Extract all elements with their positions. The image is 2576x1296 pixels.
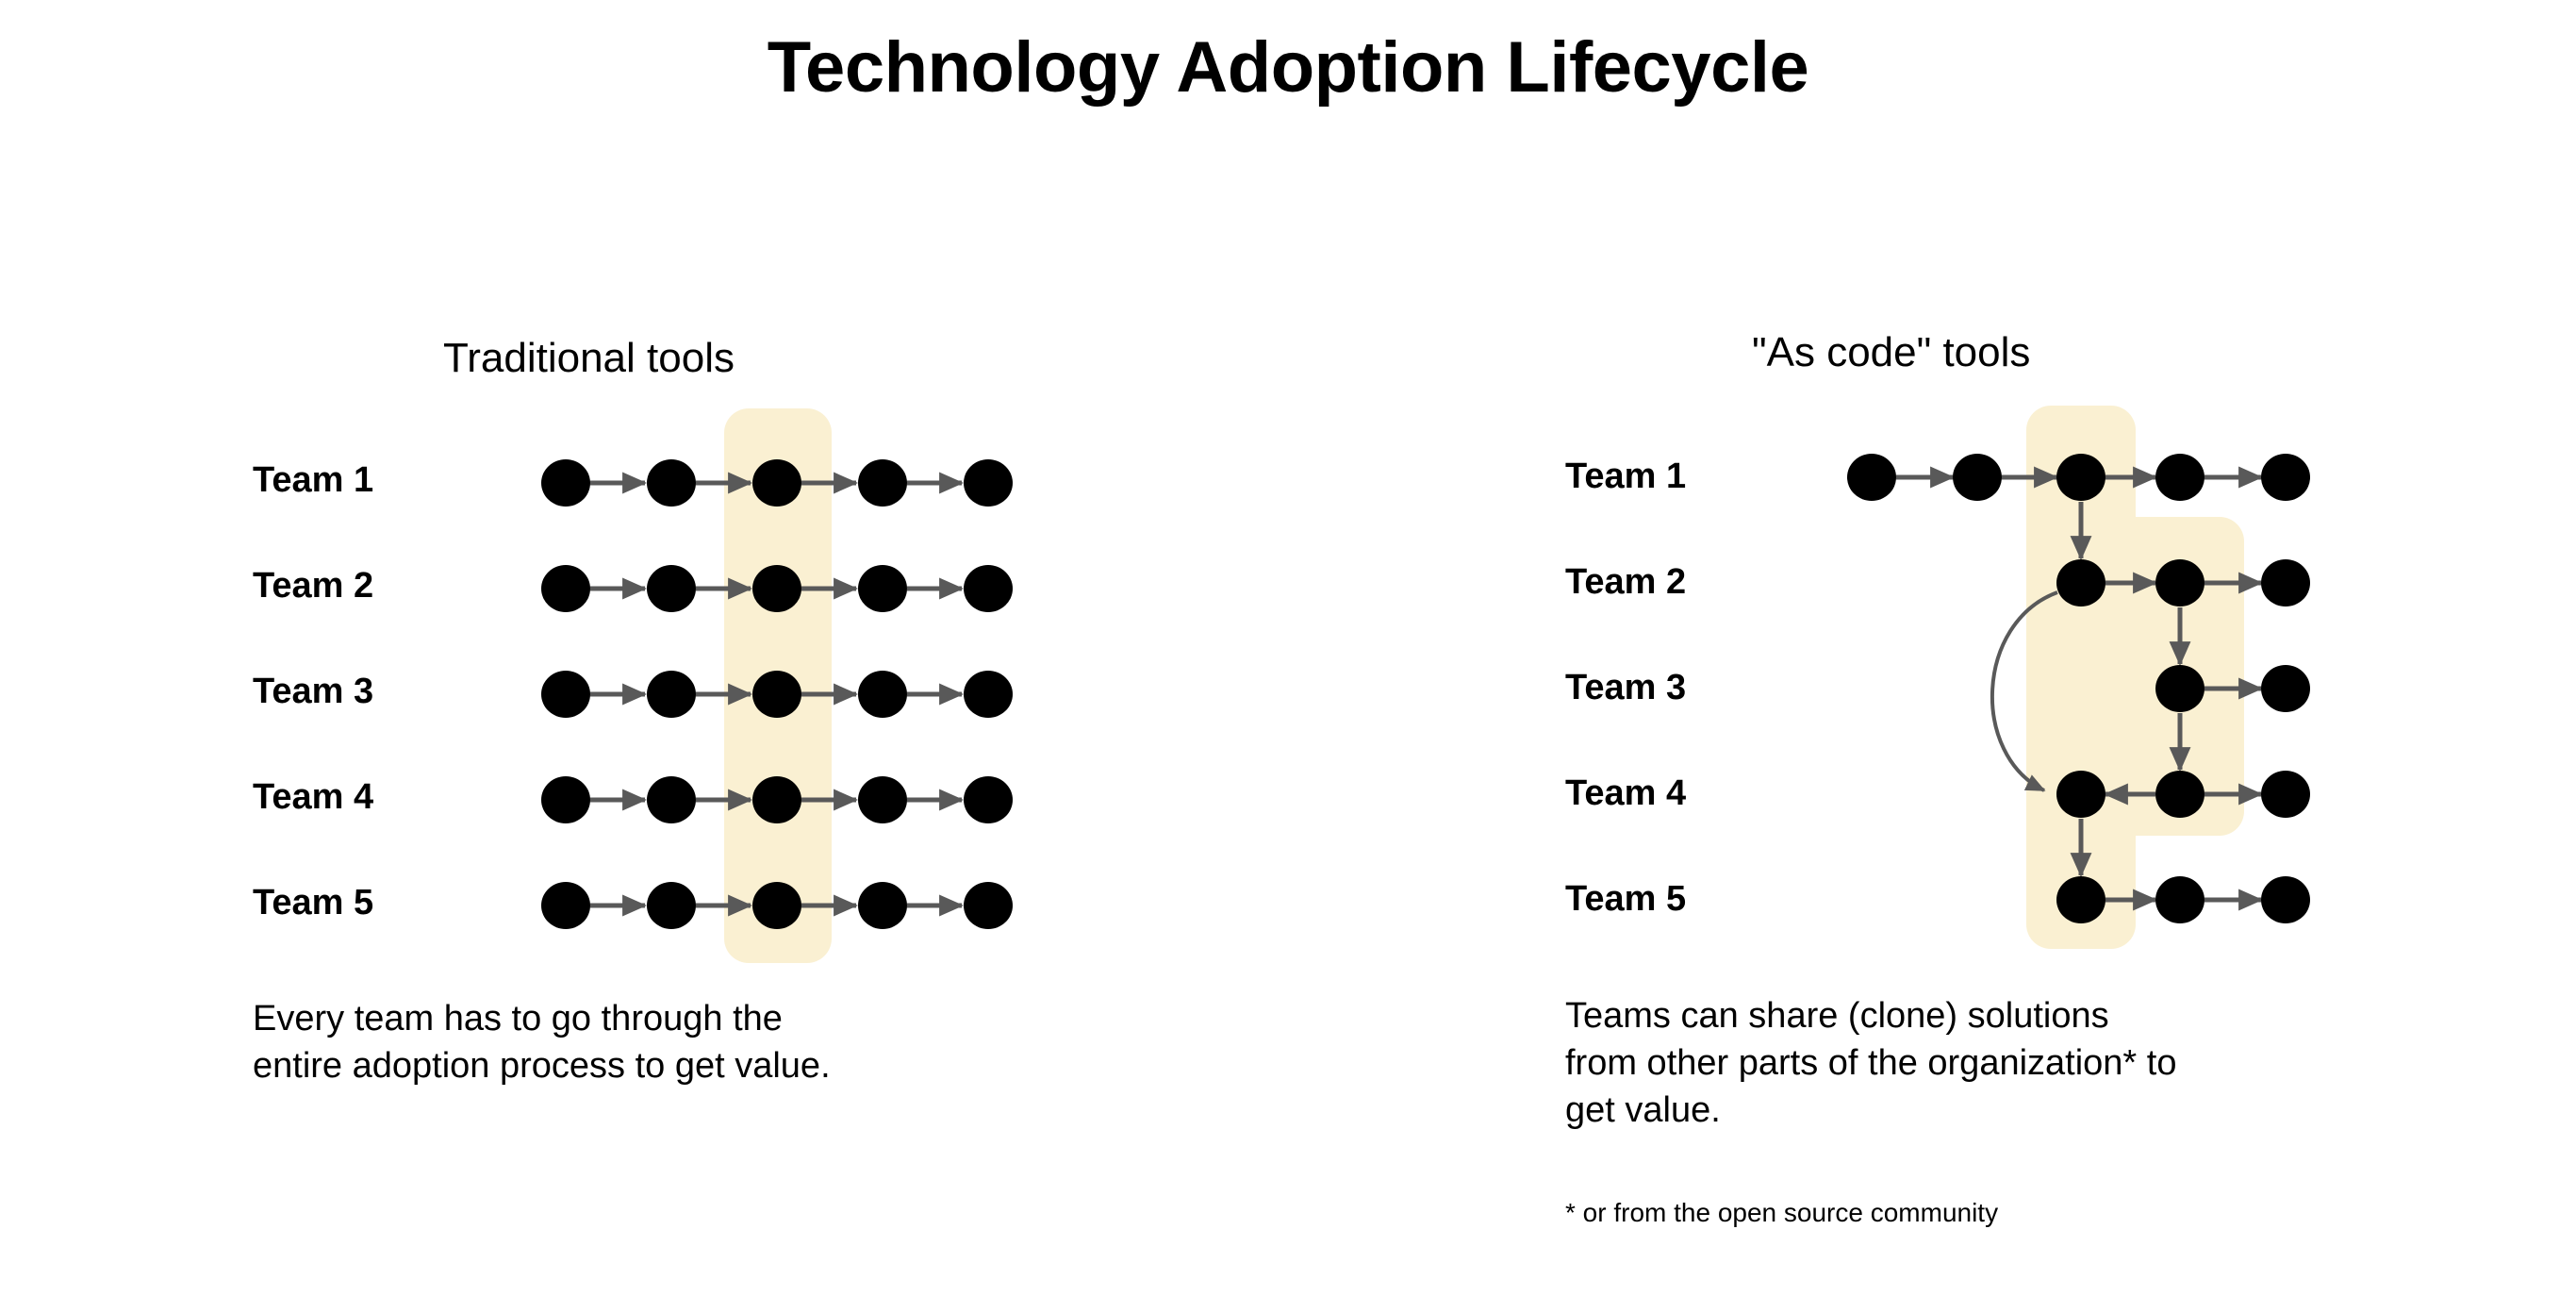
left-node-r3c4 [858, 671, 907, 718]
left-node-r2c3 [752, 565, 801, 612]
right-node-r5c4 [2155, 876, 2204, 923]
left-node-r5c3 [752, 882, 801, 929]
left-row-label-team-5: Team 5 [253, 885, 373, 921]
right-node-r4c3 [2056, 771, 2105, 818]
right-row-label-team-5: Team 5 [1565, 881, 1686, 917]
diagram-page: Technology Adoption Lifecycle Traditiona… [0, 0, 2576, 1296]
right-row-label-team-4: Team 4 [1565, 775, 1686, 811]
right-node-r2c4 [2155, 559, 2204, 606]
left-node-r2c4 [858, 565, 907, 612]
right-node-r1c4 [2155, 454, 2204, 501]
caption-traditional-tools: Every team has to go through the entire … [253, 995, 1007, 1089]
right-highlight-column-4 [2074, 517, 2244, 836]
right-panel-edges [1896, 477, 2261, 900]
right-panel-nodes [1847, 454, 2310, 923]
footnote-open-source: * or from the open source community [1565, 1200, 1998, 1226]
left-row-label-team-1: Team 1 [253, 462, 373, 498]
left-node-r2c5 [964, 565, 1013, 612]
right-row-label-team-2: Team 2 [1565, 564, 1686, 600]
left-node-r2c2 [647, 565, 696, 612]
panel-title-as-code-tools: "As code" tools [1752, 332, 2030, 374]
right-node-r2c5 [2261, 559, 2310, 606]
right-node-r3c5 [2261, 665, 2310, 712]
right-node-r5c3 [2056, 876, 2105, 923]
left-panel-nodes [541, 459, 1013, 929]
left-node-r1c4 [858, 459, 907, 507]
left-node-r5c1 [541, 882, 590, 929]
right-row-label-team-1: Team 1 [1565, 458, 1686, 494]
left-node-r4c5 [964, 776, 1013, 823]
right-node-r1c5 [2261, 454, 2310, 501]
right-node-r2c3 [2056, 559, 2105, 606]
right-highlight-column-3 [2026, 406, 2136, 949]
panel-title-traditional-tools: Traditional tools [443, 338, 735, 379]
left-panel-edges [590, 483, 962, 906]
left-node-r5c5 [964, 882, 1013, 929]
left-row-label-team-3: Team 3 [253, 673, 373, 709]
left-node-r3c2 [647, 671, 696, 718]
page-title: Technology Adoption Lifecycle [0, 32, 2576, 104]
right-node-r4c4 [2155, 771, 2204, 818]
left-row-label-team-2: Team 2 [253, 568, 373, 604]
left-node-r4c1 [541, 776, 590, 823]
right-node-r5c5 [2261, 876, 2310, 923]
left-node-r1c5 [964, 459, 1013, 507]
right-row-label-team-3: Team 3 [1565, 670, 1686, 706]
right-node-r3c4 [2155, 665, 2204, 712]
left-node-r3c3 [752, 671, 801, 718]
left-node-r2c1 [541, 565, 590, 612]
left-node-r3c1 [541, 671, 590, 718]
left-row-label-team-4: Team 4 [253, 779, 373, 815]
highlight-bands [724, 406, 2244, 963]
caption-as-code-tools: Teams can share (clone) solutions from o… [1565, 992, 2414, 1134]
left-node-r1c1 [541, 459, 590, 507]
left-node-r4c4 [858, 776, 907, 823]
left-node-r4c2 [647, 776, 696, 823]
right-node-r1c1 [1847, 454, 1896, 501]
left-node-r1c2 [647, 459, 696, 507]
left-node-r3c5 [964, 671, 1013, 718]
right-node-r4c5 [2261, 771, 2310, 818]
right-node-r1c2 [1953, 454, 2002, 501]
left-node-r5c2 [647, 882, 696, 929]
left-highlight-column-3 [724, 408, 832, 963]
left-node-r4c3 [752, 776, 801, 823]
right-node-r1c3 [2056, 454, 2105, 501]
right-edge-curve-r2c3-r4c3 [1992, 592, 2057, 790]
left-node-r5c4 [858, 882, 907, 929]
left-node-r1c3 [752, 459, 801, 507]
